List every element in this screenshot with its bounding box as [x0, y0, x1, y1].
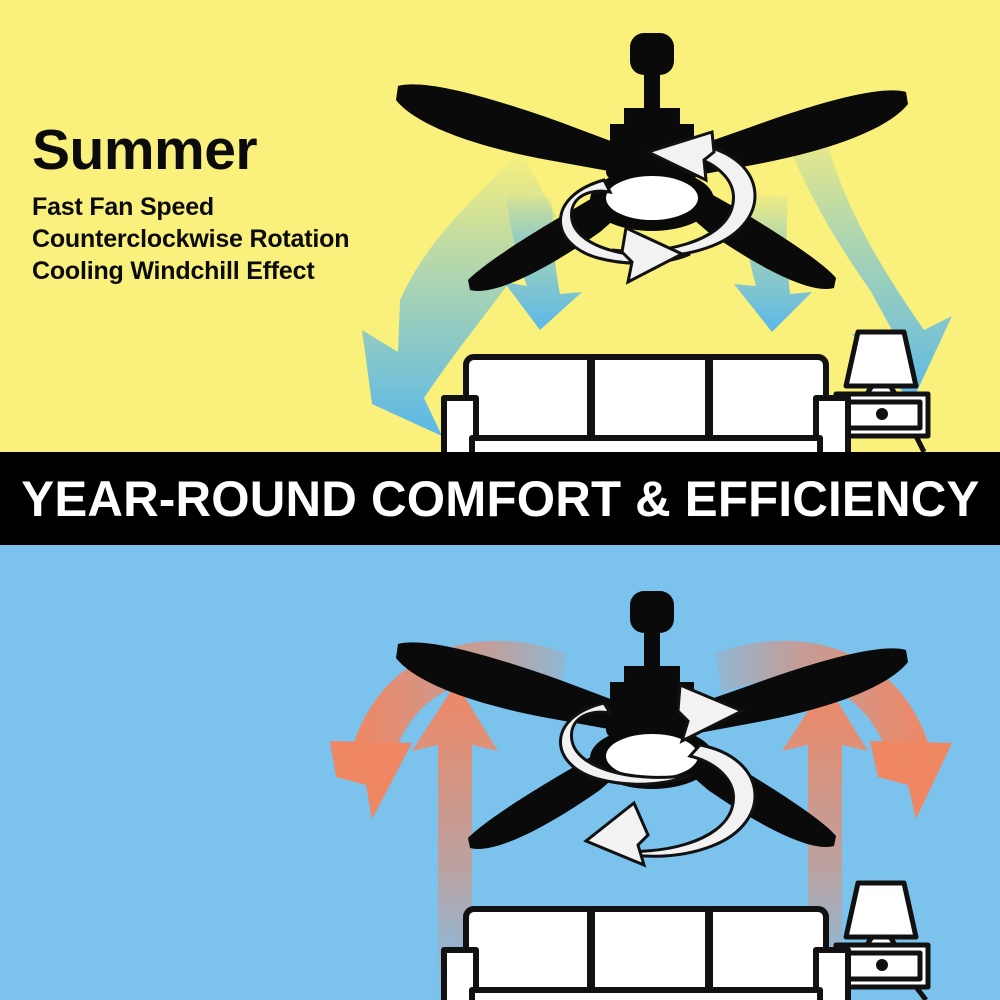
winter-illustration — [0, 545, 1000, 1000]
summer-text-block: Summer Fast Fan Speed Counterclockwise R… — [32, 122, 349, 287]
summer-panel: Summer Fast Fan Speed Counterclockwise R… — [0, 0, 1000, 452]
airflow-arrow-icon — [330, 741, 412, 819]
summer-line-1: Fast Fan Speed — [32, 191, 349, 223]
fan-direction-infographic: Summer Fast Fan Speed Counterclockwise R… — [0, 0, 1000, 1000]
sofa-icon — [444, 909, 848, 1000]
center-banner: YEAR-ROUND COMFORT & EFFICIENCY — [0, 452, 1000, 545]
summer-heading: Summer — [32, 122, 349, 179]
winter-panel: Winter Slow Fan Speed Clockwise Rotation… — [0, 545, 1000, 1000]
summer-line-2: Counterclockwise Rotation — [32, 223, 349, 255]
banner-headline: YEAR-ROUND COMFORT & EFFICIENCY — [21, 474, 979, 524]
sofa-icon — [444, 357, 848, 452]
summer-line-3: Cooling Windchill Effect — [32, 255, 349, 287]
airflow-arrow-icon — [870, 741, 952, 819]
